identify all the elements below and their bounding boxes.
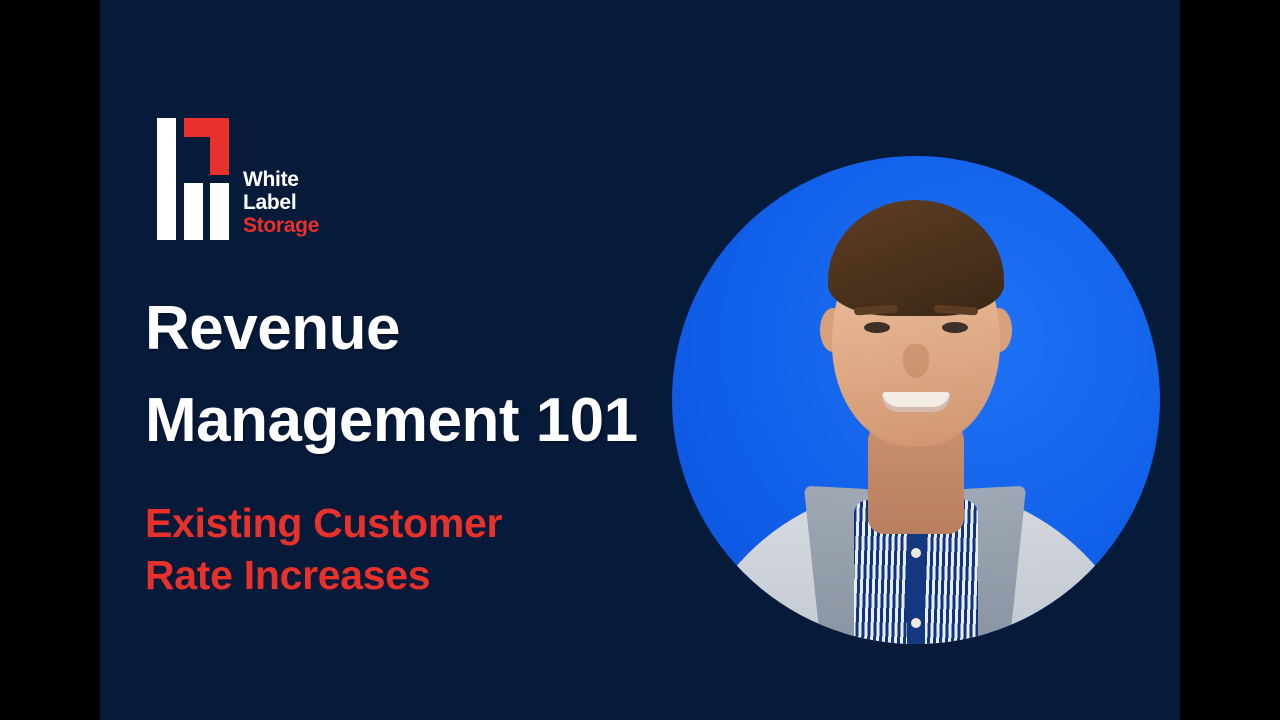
wordmark-line-storage: Storage [243,214,319,237]
letterbox-bar-right [1180,0,1280,720]
brand-wordmark: White Label Storage [243,168,319,237]
storage-bars-icon [157,118,229,240]
wordmark-line-white: White [243,168,319,191]
slide-title: Revenue Management 101 [145,283,845,467]
portrait-eye-left [864,322,890,333]
slide-canvas: White Label Storage Revenue Management 1… [100,0,1180,720]
portrait-mouth [882,392,950,412]
logo-bar-middle [184,183,203,240]
portrait-nose [903,344,929,378]
video-frame: White Label Storage Revenue Management 1… [0,0,1280,720]
wordmark-line-label: Label [243,191,319,214]
title-line-1: Revenue [145,283,845,375]
logo-bar-tall [157,118,176,240]
title-line-2: Management 101 [145,375,845,467]
letterbox-bar-left [0,0,100,720]
logo-flag-vertical [210,118,229,175]
subtitle-line-2: Rate Increases [145,549,765,601]
slide-subtitle: Existing Customer Rate Increases [145,497,765,601]
portrait-eye-right [942,322,968,333]
brand-logo: White Label Storage [157,118,427,242]
subtitle-line-1: Existing Customer [145,497,765,549]
shirt-button [911,548,921,558]
logo-bar-short [210,183,229,240]
portrait-hair [828,200,1004,316]
shirt-button [911,618,921,628]
